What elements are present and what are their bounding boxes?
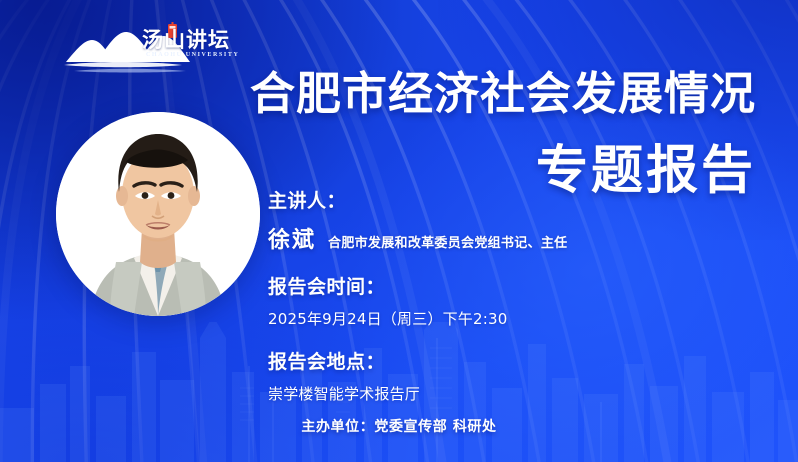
poster-canvas: 汤山讲坛 CHAOHU UNIVERSITY 合肥市经济社会发展情况 专题报告 (0, 0, 798, 462)
time-value: 2025年9月24日（周三）下午2:30 (268, 308, 738, 329)
logo-name-en: CHAOHU UNIVERSITY (146, 52, 239, 58)
speaker-title: 合肥市发展和改革委员会党组书记、主任 (328, 232, 567, 251)
spacer (268, 254, 738, 272)
place-label: 报告会地点： (268, 347, 738, 374)
chaohu-university-logo[interactable]: 汤山讲坛 CHAOHU UNIVERSITY (62, 22, 240, 78)
speaker-row: 徐斌 合肥市发展和改革委员会党组书记、主任 (268, 222, 738, 254)
poster-title-line1: 合肥市经济社会发展情况 (250, 57, 756, 122)
spacer (268, 329, 738, 347)
logo-name-cn: 汤山讲坛 (142, 24, 230, 54)
speaker-name: 徐斌 (268, 222, 316, 254)
time-label: 报告会时间： (268, 272, 738, 299)
speaker-label: 主讲人： (268, 186, 738, 213)
organizer-line: 主办单位：党委宣传部 科研处 (0, 416, 798, 436)
event-details: 主讲人： 徐斌 合肥市发展和改革委员会党组书记、主任 报告会时间： 2025年9… (268, 186, 738, 404)
speaker-portrait (56, 112, 260, 316)
place-value: 崇学楼智能学术报告厅 (268, 383, 738, 404)
